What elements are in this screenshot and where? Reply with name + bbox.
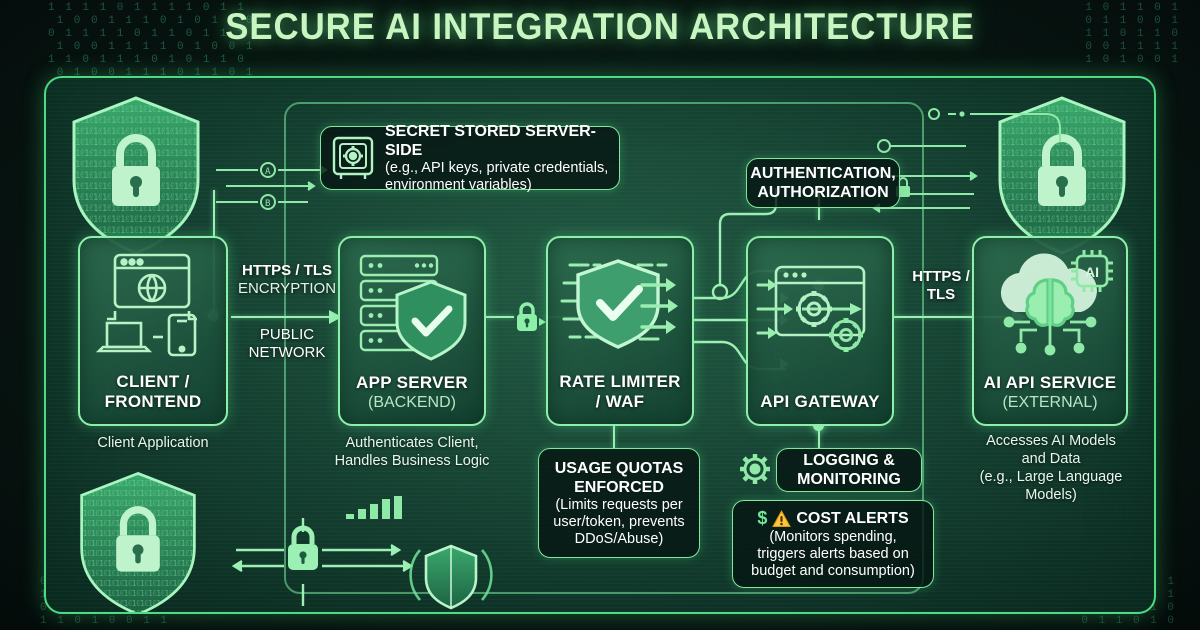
caption-client-application: Client Application: [58, 434, 248, 452]
caption-line1: Accesses AI Models: [946, 432, 1156, 450]
node-label: RATE LIMITER / WAF: [559, 372, 680, 412]
shield-check-filter-arrows-icon: [548, 238, 692, 372]
cloud-brain-ai-chip-icon: AI: [974, 238, 1126, 373]
node-rate-limiter-waf[interactable]: RATE LIMITER / WAF: [546, 236, 694, 426]
node-label: API GATEWAY: [760, 392, 880, 412]
svg-text:B: B: [265, 199, 270, 209]
page-title: SECURE AI INTEGRATION ARCHITECTURE: [36, 6, 1164, 48]
caption-line2: Handles Business Logic: [296, 452, 528, 470]
caption-line2: and Data: [946, 450, 1156, 468]
node-label: APP SERVER: [356, 373, 468, 393]
callout-text: AUTHENTICATION, AUTHORIZATION: [750, 164, 895, 202]
shield-lock-binary-icon: [72, 468, 204, 614]
node-label-line1: CLIENT /: [105, 372, 202, 392]
callout-heading: COST ALERTS: [796, 509, 908, 528]
callout-body-line2: user/token, prevents: [553, 514, 684, 531]
callout-heading-line1: AUTHENTICATION,: [750, 164, 895, 183]
safe-vault-icon: [331, 135, 375, 181]
callout-logging-monitoring[interactable]: LOGGING & MONITORING: [776, 448, 922, 492]
node-label: CLIENT / FRONTEND: [105, 372, 202, 412]
callout-heading-line2: MONITORING: [797, 470, 901, 489]
callout-body-line3: DDoS/Abuse): [553, 531, 684, 548]
callout-text: LOGGING & MONITORING: [797, 451, 901, 489]
callout-body-line1: (Limits requests per: [553, 497, 684, 514]
edge-label-https-tls: HTTPS / TLS ENCRYPTION: [232, 262, 342, 298]
callout-heading-line1: USAGE QUOTAS: [553, 459, 684, 478]
callout-body-line1: (Monitors spending,: [769, 529, 896, 546]
callout-body-line1: (e.g., API keys, private credentials,: [385, 160, 609, 177]
callout-body-line2: triggers alerts based on: [757, 546, 909, 563]
edge-label-line2: ENCRYPTION: [232, 280, 342, 298]
callout-heading: SECRET STORED SERVER-SIDE: [385, 122, 609, 160]
edge-label-public-network: PUBLIC NETWORK: [232, 326, 342, 362]
decorative-circuit-trace: [926, 102, 1116, 142]
edge-label-line3: PUBLIC: [232, 326, 342, 344]
server-rack-shield-check-icon: [340, 238, 484, 373]
callout-text: USAGE QUOTAS ENFORCED (Limits requests p…: [553, 459, 684, 548]
callout-body-line2: environment variables): [385, 177, 609, 194]
caption-ai-api-service: Accesses AI Models and Data (e.g., Large…: [946, 432, 1156, 504]
edge-label-line4: NETWORK: [232, 344, 342, 362]
node-label: AI API SERVICE: [984, 373, 1117, 393]
svg-text:A: A: [265, 167, 271, 177]
node-label-line2: FRONTEND: [105, 392, 202, 412]
connector-ratelimiter-to-quotas: [613, 424, 615, 448]
diagram-panel: 1 0: [44, 76, 1156, 614]
callout-cost-alerts[interactable]: $ COST ALERTS (Monitors spending, trigge…: [732, 500, 934, 588]
devices-browser-laptop-phone-icon: [80, 238, 226, 372]
callout-heading-line2: ENFORCED: [553, 478, 684, 497]
connector-client-to-appserver: [231, 316, 338, 318]
shield-lock-binary-icon: [992, 92, 1132, 257]
caption-app-server: Authenticates Client, Handles Business L…: [296, 434, 528, 470]
callout-authentication-authorization[interactable]: AUTHENTICATION, AUTHORIZATION: [746, 158, 900, 208]
callout-body-line3: budget and consumption): [751, 563, 915, 580]
caption-line1: Authenticates Client,: [296, 434, 528, 452]
callout-usage-quotas[interactable]: USAGE QUOTAS ENFORCED (Limits requests p…: [538, 448, 700, 558]
callout-text: SECRET STORED SERVER-SIDE (e.g., API key…: [385, 122, 609, 194]
dollar-icon: $: [757, 508, 767, 529]
caption-line4: Models): [946, 486, 1156, 504]
callout-secret-storage[interactable]: SECRET STORED SERVER-SIDE (e.g., API key…: [320, 126, 620, 190]
caption-line3: (e.g., Large Language: [946, 468, 1156, 486]
node-app-server[interactable]: APP SERVER (BACKEND): [338, 236, 486, 426]
window-gears-icon: [748, 238, 892, 392]
svg-text:AI: AI: [1085, 264, 1099, 280]
shield-lock-binary-icon: 1 0: [66, 92, 206, 257]
callout-heading-line1: LOGGING &: [797, 451, 901, 470]
node-sublabel: (EXTERNAL): [1002, 393, 1097, 412]
node-client-frontend[interactable]: CLIENT / FRONTEND: [78, 236, 228, 426]
callout-cost-alerts-heading-row: $ COST ALERTS: [757, 508, 908, 529]
callout-heading-line2: AUTHORIZATION: [750, 183, 895, 202]
node-label-line2: / WAF: [559, 392, 680, 412]
node-api-gateway[interactable]: API GATEWAY: [746, 236, 894, 426]
node-sublabel: (BACKEND): [368, 393, 456, 412]
warning-triangle-icon: [772, 510, 791, 528]
edge-label-line1: HTTPS / TLS: [232, 262, 342, 280]
node-ai-api-service[interactable]: AI AI API SERVICE (EXTERNAL): [972, 236, 1128, 426]
node-label-line1: RATE LIMITER: [559, 372, 680, 392]
connector-appserver-to-ratelimiter: [486, 316, 514, 318]
